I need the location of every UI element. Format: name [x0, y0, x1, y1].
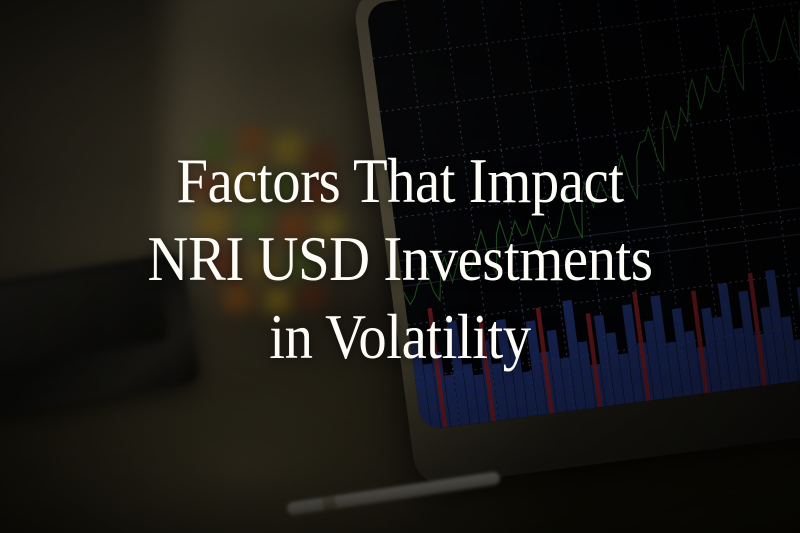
title-line-3: in Volatility	[40, 299, 760, 377]
title-line-2: NRI USD Investments	[40, 221, 760, 299]
hero-banner: Factors That Impact NRI USD Investments …	[0, 0, 800, 533]
title-line-1: Factors That Impact	[40, 143, 760, 221]
page-title: Factors That Impact NRI USD Investments …	[0, 143, 800, 376]
